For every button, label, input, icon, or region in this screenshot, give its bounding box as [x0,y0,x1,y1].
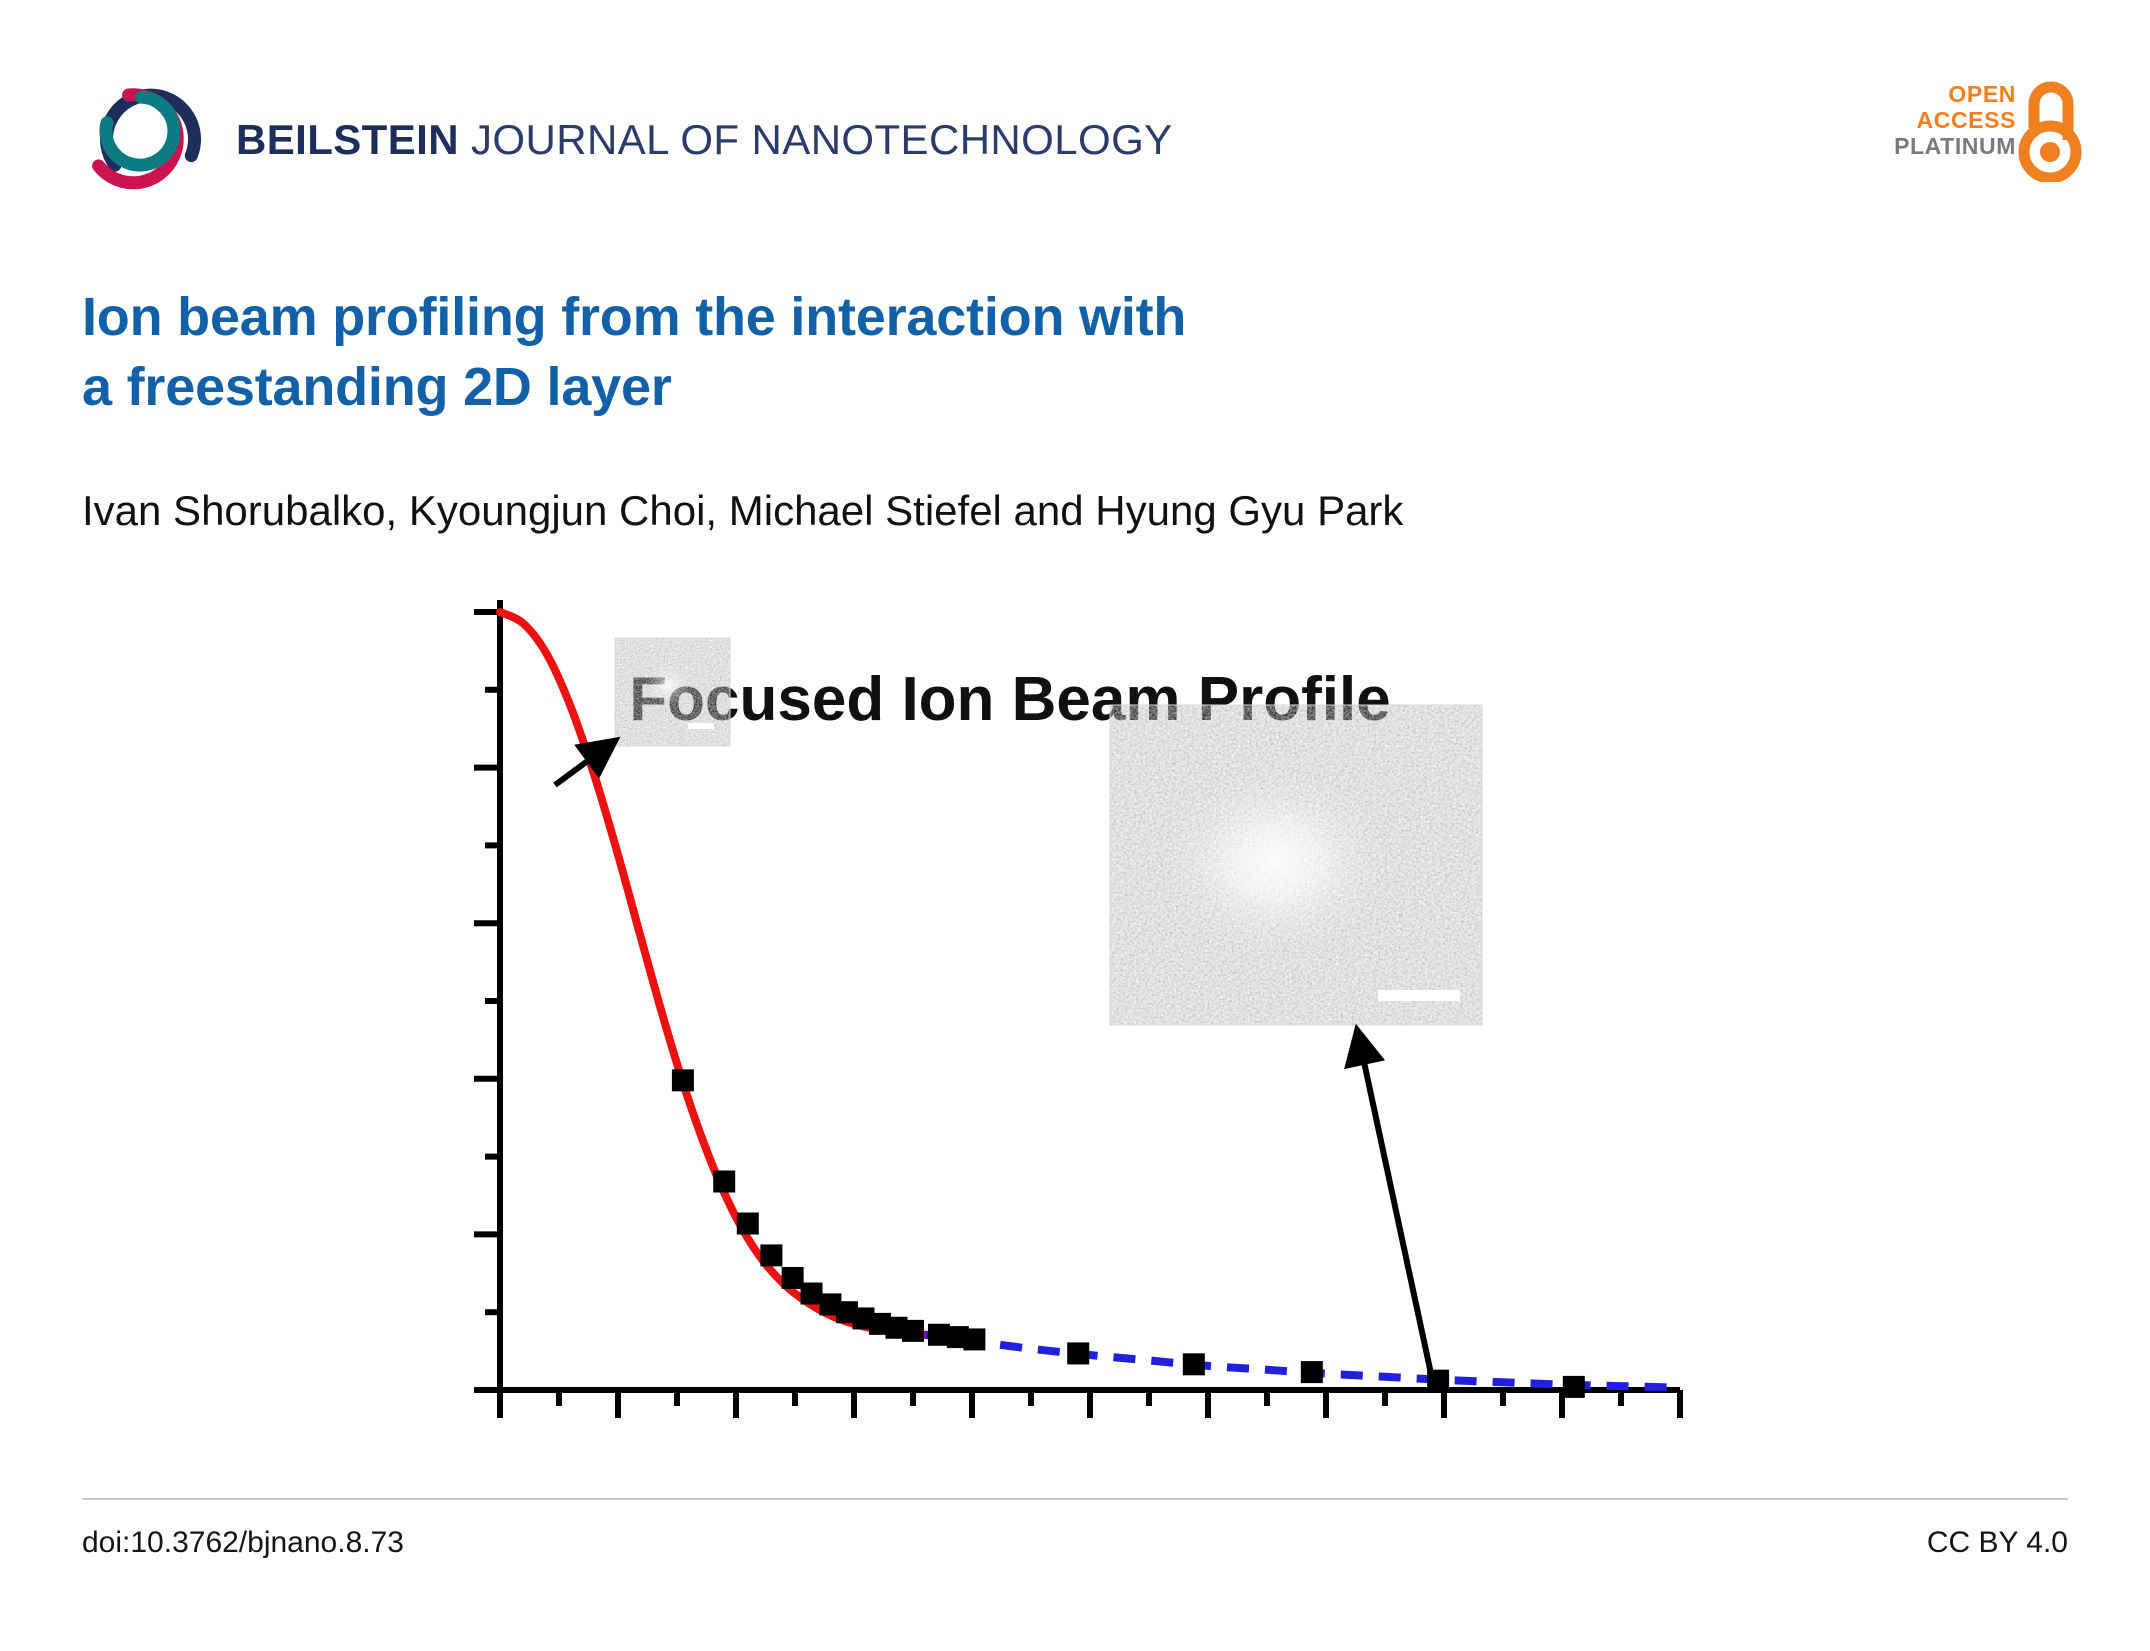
x-axis-ticks [500,1390,1680,1418]
data-point-marker [1563,1376,1585,1398]
journal-title-light: JOURNAL OF NANOTECHNOLOGY [459,116,1173,163]
open-access-line-open: OPEN [1894,82,2016,108]
data-point-marker [963,1328,985,1350]
footer-divider [82,1498,2068,1500]
page-title-line-1: Ion beam profiling from the interaction … [82,287,1186,347]
data-point-marker [928,1324,950,1346]
journal-title: BEILSTEIN JOURNAL OF NANOTECHNOLOGY [236,116,1173,164]
open-access-line-access: ACCESS [1894,108,2016,134]
page-title-line-2: a freestanding 2D layer [82,352,1582,422]
data-point-marker [801,1283,823,1305]
data-point-marker [1301,1361,1323,1383]
page-title: Ion beam profiling from the interaction … [82,282,1582,422]
series-measured-points [672,1069,1585,1398]
page-header: BEILSTEIN JOURNAL OF NANOTECHNOLOGY OPEN… [0,0,2150,210]
data-point-marker [737,1213,759,1235]
y-axis-ticks [474,612,500,1390]
data-point-marker [1067,1342,1089,1364]
open-lock-icon [2018,78,2082,182]
figure-ion-beam-profile: Focused Ion Beam Profile [430,590,1720,1460]
open-access-line-platinum: PLATINUM [1894,134,2016,160]
footer-doi: doi:10.3762/bjnano.8.73 [82,1526,404,1560]
data-point-marker [1183,1353,1205,1375]
open-access-badge: OPEN ACCESS PLATINUM [1882,78,2082,186]
data-point-marker [713,1170,735,1192]
data-point-marker [782,1267,804,1289]
chart-canvas: Focused Ion Beam Profile [430,590,1720,1460]
scalebar-inset-2 [1378,990,1460,1001]
journal-title-bold: BEILSTEIN [236,116,459,163]
arrow-to-inset-2 [1358,1034,1433,1383]
data-point-marker [672,1069,694,1091]
sem-inset-defocused-spot [1110,705,1482,1025]
data-point-marker [902,1320,924,1342]
article-cover-page: BEILSTEIN JOURNAL OF NANOTECHNOLOGY OPEN… [0,0,2150,1651]
data-point-marker [760,1244,782,1266]
footer-license: CC BY 4.0 [1927,1526,2068,1560]
sem-inset-focused-spot [615,638,730,746]
beilstein-logo-icon [78,70,206,198]
authors-line: Ivan Shorubalko, Kyoungjun Choi, Michael… [82,487,1882,535]
open-access-text: OPEN ACCESS PLATINUM [1894,82,2016,159]
scalebar-inset-1 [688,723,714,729]
